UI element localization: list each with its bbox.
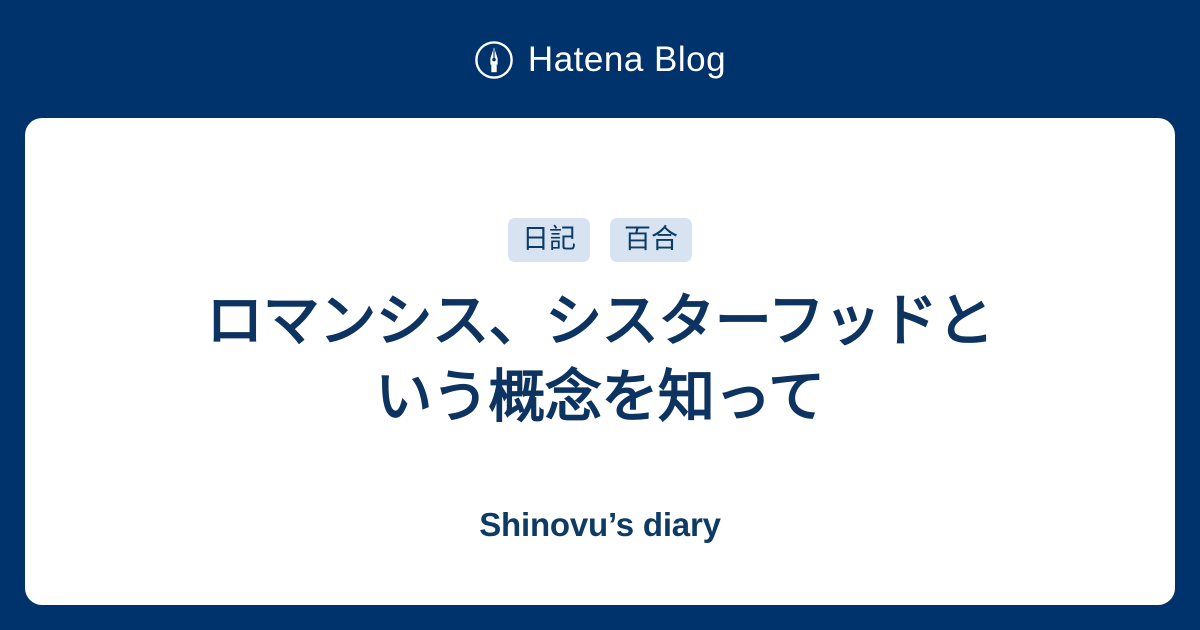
blog-name[interactable]: Shinovu’s diary [25, 508, 1175, 541]
entry-tag[interactable]: 日記 [508, 218, 590, 262]
entry-tag[interactable]: 百合 [610, 218, 692, 262]
pen-nib-circle-icon [474, 38, 514, 80]
pen-nib-circle-icon-svg [474, 40, 514, 80]
site-brand-header[interactable]: Hatena Blog [0, 0, 1200, 118]
entry-title[interactable]: ロマンシス、シスターフッドという概念を知って [205, 284, 995, 436]
entry-tag-list: 日記 百合 [508, 218, 692, 262]
brand-name-label: Hatena Blog [528, 42, 726, 77]
entry-card: 日記 百合 ロマンシス、シスターフッドという概念を知って Shinovu’s d… [25, 118, 1175, 605]
